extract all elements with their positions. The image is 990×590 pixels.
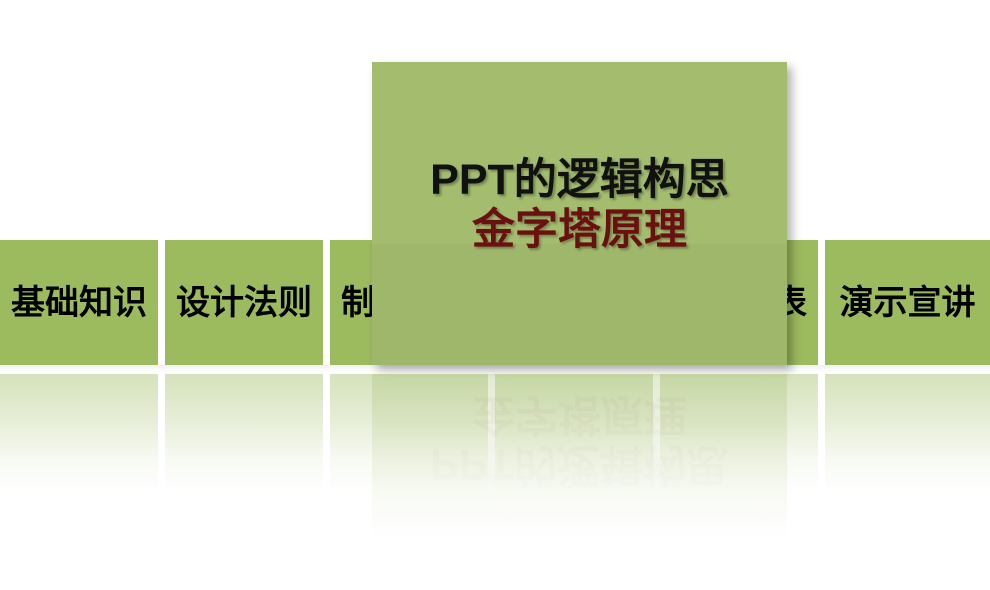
slide-canvas: 基础知识 设计法则 制作技能 逻辑构思 数据图表 演示宣讲 PPT的逻辑构思 金… — [0, 0, 990, 590]
tab-strip-reflection — [0, 374, 990, 499]
tab-yanshixuanjiang[interactable]: 演示宣讲 — [825, 240, 990, 365]
tab-label: 演示宣讲 — [840, 286, 976, 320]
tab-jichuzhishi[interactable]: 基础知识 — [0, 240, 158, 365]
tab-reflection — [825, 374, 990, 499]
tab-label: 设计法则 — [176, 286, 312, 320]
tab-reflection — [165, 374, 323, 499]
tab-reflection — [660, 374, 818, 499]
tab-shejifaze[interactable]: 设计法则 — [165, 240, 323, 365]
tab-reflection — [495, 374, 653, 499]
tab-reflection — [0, 374, 158, 499]
tab-label: 基础知识 — [11, 286, 147, 320]
page-subtitle: 金字塔原理 — [472, 206, 687, 254]
title-panel: PPT的逻辑构思 金字塔原理 — [372, 62, 787, 365]
page-title: PPT的逻辑构思 — [430, 156, 729, 204]
strip-shadow-divider — [0, 365, 990, 374]
tab-reflection — [330, 374, 488, 499]
